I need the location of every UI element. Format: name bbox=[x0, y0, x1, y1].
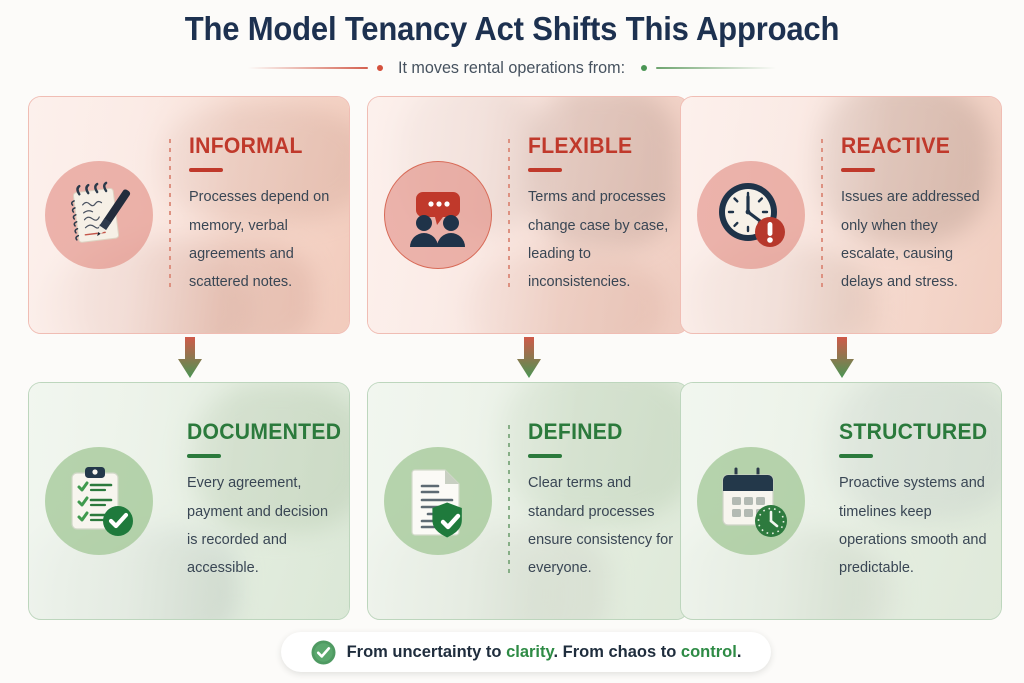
card-reactive[interactable]: REACTIVE Issues are addressed only when … bbox=[680, 96, 1002, 334]
icon-column bbox=[368, 97, 508, 333]
card-title-underline bbox=[189, 168, 223, 172]
document-shield-icon bbox=[399, 462, 477, 540]
subtitle-rule-right bbox=[656, 67, 776, 69]
icon-circle bbox=[384, 447, 492, 555]
clock-alert-icon bbox=[710, 174, 792, 256]
icon-column bbox=[681, 97, 821, 333]
card-structured[interactable]: STRUCTURED Proactive systems and timelin… bbox=[680, 382, 1002, 620]
card-body: Every agreement, payment and decision is… bbox=[187, 469, 339, 582]
card-title-underline bbox=[528, 454, 562, 458]
card-title: DEFINED bbox=[528, 419, 670, 445]
icon-circle bbox=[697, 447, 805, 555]
transition-arrow-1-icon bbox=[175, 337, 205, 379]
card-documented[interactable]: DOCUMENTED Every agreement, payment and … bbox=[28, 382, 350, 620]
card-body: Processes depend on memory, verbal agree… bbox=[189, 183, 337, 296]
card-title: INFORMAL bbox=[189, 133, 331, 159]
card-title: REACTIVE bbox=[841, 133, 983, 159]
card-body: Clear terms and standard processes ensur… bbox=[528, 469, 676, 582]
icon-column bbox=[368, 383, 508, 619]
subtitle-dot-right-icon bbox=[641, 65, 647, 71]
icon-column bbox=[29, 97, 169, 333]
card-informal[interactable]: INFORMAL Processes depend on memory, ver… bbox=[28, 96, 350, 334]
card-body: Issues are addressed only when they esca… bbox=[841, 183, 989, 296]
text-column: STRUCTURED Proactive systems and timelin… bbox=[821, 419, 1002, 582]
card-title-underline bbox=[528, 168, 562, 172]
subtitle-row: It moves rental operations from: bbox=[0, 58, 1024, 78]
icon-circle bbox=[697, 161, 805, 269]
card-title-underline bbox=[841, 168, 875, 172]
icon-circle bbox=[384, 161, 492, 269]
card-flexible[interactable]: FLEXIBLE Terms and processes change case… bbox=[367, 96, 689, 334]
clipboard-checklist-icon bbox=[59, 461, 139, 541]
footer-text: From uncertainty to clarity. From chaos … bbox=[347, 643, 742, 662]
text-column: FLEXIBLE Terms and processes change case… bbox=[510, 133, 688, 296]
notepad-pen-icon bbox=[60, 176, 138, 254]
subtitle-dot-left-icon bbox=[377, 65, 383, 71]
calendar-clock-icon bbox=[711, 461, 791, 541]
icon-column bbox=[681, 383, 821, 619]
subtitle-text: It moves rental operations from: bbox=[398, 58, 625, 78]
text-column: DEFINED Clear terms and standard process… bbox=[510, 419, 688, 582]
icon-column bbox=[29, 383, 169, 619]
transition-arrow-3-icon bbox=[827, 337, 857, 379]
text-column: DOCUMENTED Every agreement, payment and … bbox=[169, 419, 350, 582]
card-title: STRUCTURED bbox=[839, 419, 987, 445]
subtitle-rule-left bbox=[248, 67, 368, 69]
header: The Model Tenancy Act Shifts This Approa… bbox=[0, 0, 1024, 92]
card-title: DOCUMENTED bbox=[187, 419, 341, 445]
card-title-underline bbox=[187, 454, 221, 458]
card-body: Proactive systems and timelines keep ope… bbox=[839, 469, 991, 582]
card-body: Terms and processes change case by case,… bbox=[528, 183, 676, 296]
footer-banner: From uncertainty to clarity. From chaos … bbox=[281, 632, 771, 672]
card-defined[interactable]: DEFINED Clear terms and standard process… bbox=[367, 382, 689, 620]
people-speech-bubble-icon bbox=[401, 178, 475, 252]
card-title-underline bbox=[839, 454, 873, 458]
card-title: FLEXIBLE bbox=[528, 133, 670, 159]
icon-circle bbox=[45, 161, 153, 269]
page-title: The Model Tenancy Act Shifts This Approa… bbox=[31, 10, 994, 48]
icon-circle bbox=[45, 447, 153, 555]
text-column: INFORMAL Processes depend on memory, ver… bbox=[171, 133, 349, 296]
check-circle-icon bbox=[311, 640, 336, 665]
infographic-canvas: The Model Tenancy Act Shifts This Approa… bbox=[0, 0, 1024, 683]
transition-arrow-2-icon bbox=[514, 337, 544, 379]
text-column: REACTIVE Issues are addressed only when … bbox=[823, 133, 1001, 296]
